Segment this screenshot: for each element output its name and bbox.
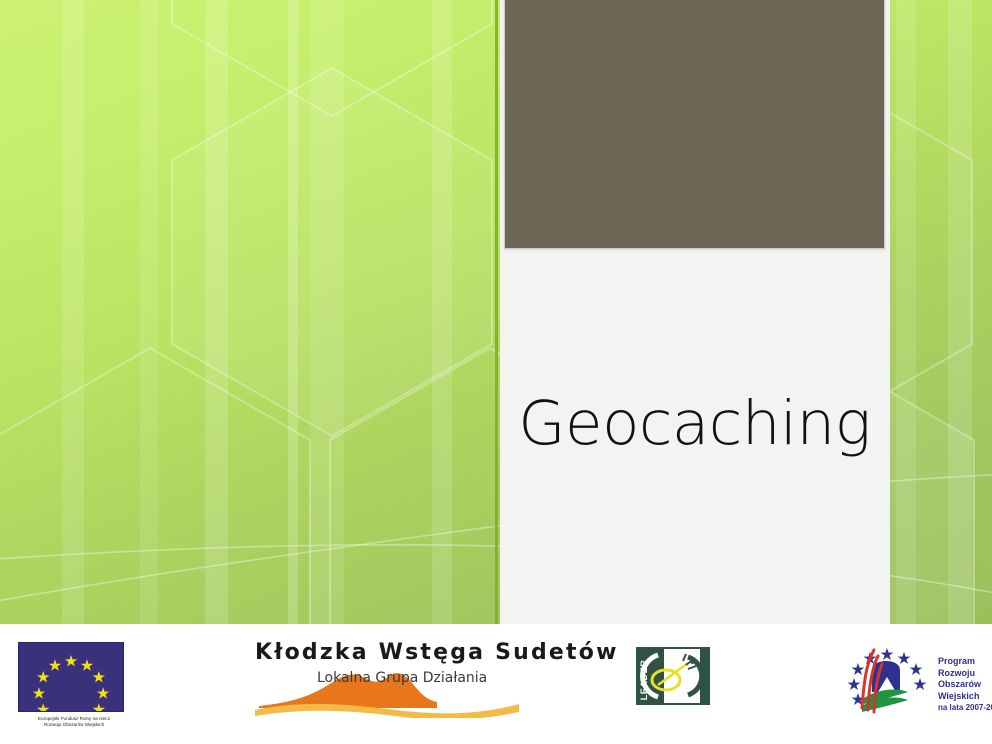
slide-title: Geocaching <box>504 388 885 460</box>
prow-line-2: Rozwoju <box>938 668 992 680</box>
prow-emblem-icon <box>838 646 936 718</box>
prow-line-1: Program <box>938 656 992 668</box>
prow-text-block: Program Rozwoju Obszarów Wiejskich na la… <box>938 656 992 712</box>
eu-flag-icon <box>18 642 124 712</box>
leader-label: LEADER <box>639 660 649 701</box>
leader-emblem-icon: LEADER <box>636 647 710 705</box>
eu-caption: Europejski Fundusz Rolny na rzecz Rozwoj… <box>18 716 130 728</box>
kws-subtitle: Lokalna Grupa Działania <box>317 670 487 686</box>
prow-line-4: Wiejskich <box>938 691 992 703</box>
prow-years: na lata 2007-2013 <box>938 703 992 712</box>
prow-logo: Program Rozwoju Obszarów Wiejskich na la… <box>838 646 936 723</box>
picture-placeholder[interactable] <box>504 0 885 249</box>
presentation-slide: Geocaching <box>0 0 992 744</box>
eu-logo: Europejski Fundusz Rolny na rzecz Rozwoj… <box>18 642 136 728</box>
eu-caption-line-2: Rozwoju Obszarów Wiejskich <box>18 722 130 728</box>
eu-stars-icon <box>19 643 123 711</box>
prow-line-3: Obszarów <box>938 679 992 691</box>
panel-left-edge <box>495 0 498 624</box>
klodzka-wstega-sudetow-logo: Kłodzka Wstęga Sudetów Lokalna Grupa Dzi… <box>255 640 523 665</box>
leader-logo: LEADER <box>636 647 710 710</box>
